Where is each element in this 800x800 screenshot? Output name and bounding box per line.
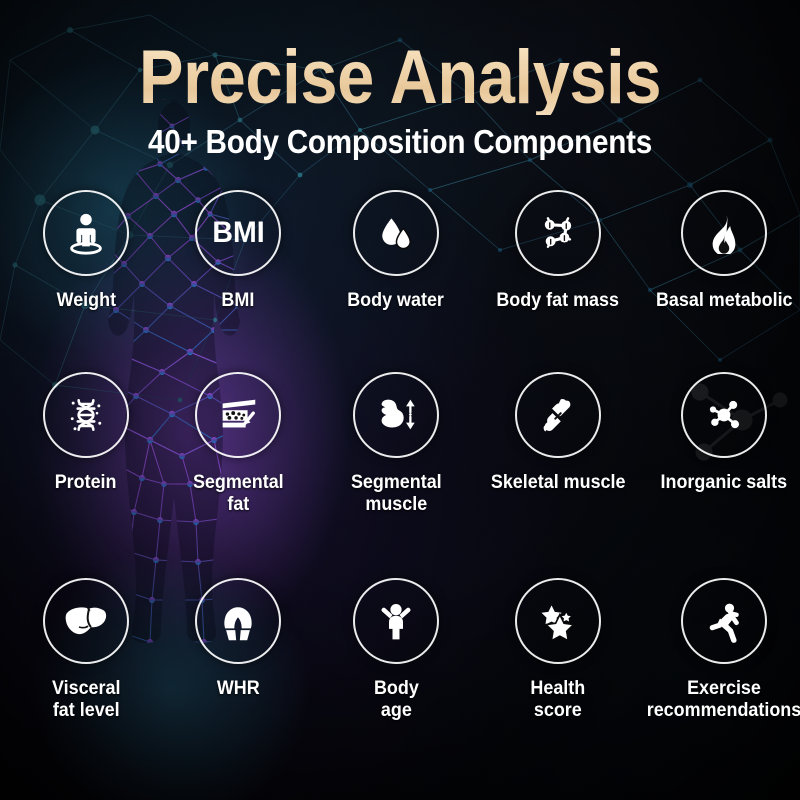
metric-card-segmental-muscle[interactable]: Segmental muscle [316,370,476,520]
segmental-fat-icon-circle[interactable] [195,372,281,458]
body-fat-mass-icon-circle[interactable] [515,190,601,276]
metric-card-visceral-fat-level[interactable]: Visceral fat level [6,572,166,722]
metric-label: Segmental muscle [351,471,442,516]
protein-icon-circle[interactable] [43,372,129,458]
basal-metabolic-icon-circle[interactable] [681,190,767,276]
metric-card-whr[interactable]: WHR [158,572,318,722]
metrics-grid: Weight BMI BMI Body water [0,190,800,800]
metric-card-segmental-fat[interactable]: Segmental fat [158,370,318,520]
skeletal-muscle-icon-circle[interactable] [515,372,601,458]
metric-label: WHR [217,677,260,699]
metric-label: Exercise recommendations [647,677,800,722]
metric-label: Weight [56,289,115,311]
infographic-poster: Precise Analysis 40+ Body Composition Co… [0,0,800,800]
whr-icon-circle[interactable] [195,578,281,664]
exercise-icon-circle[interactable] [681,578,767,664]
two-stars-icon [536,599,580,643]
bone-joint-icon [536,393,580,437]
dna-helix-icon [64,393,108,437]
metric-label: Visceral fat level [52,677,121,722]
water-droplets-icon [374,211,418,255]
running-person-icon [702,599,746,643]
metric-card-inorganic-salts[interactable]: Inorganic salts [644,370,800,520]
visceral-fat-icon-circle[interactable] [43,578,129,664]
metric-card-body-fat-mass[interactable]: Body fat mass [478,190,638,318]
hips-waist-icon [216,599,260,643]
metric-card-basal-metabolic[interactable]: Basal metabolic [644,190,800,318]
fat-layers-arrow-icon [215,392,261,438]
bicep-arrow-icon [373,392,419,438]
page-subtitle: 40+ Body Composition Components [40,115,760,161]
body-water-icon-circle[interactable] [353,190,439,276]
metric-card-health-score[interactable]: Health score [478,572,638,722]
fat-molecule-icon [536,211,580,255]
bmi-icon-circle[interactable]: BMI [195,190,281,276]
metric-label: Segmental fat [193,471,284,516]
metric-label: Basal metabolic [656,289,793,311]
metric-card-bmi[interactable]: BMI BMI [158,190,318,318]
poster-header: Precise Analysis 40+ Body Composition Co… [0,0,800,161]
metric-card-body-age[interactable]: Body age [316,572,476,722]
health-score-icon-circle[interactable] [515,578,601,664]
person-on-scale-icon [63,210,109,256]
metric-label: Body fat mass [497,289,620,311]
metric-card-skeletal-muscle[interactable]: Skeletal muscle [478,370,638,520]
metric-label: Skeletal muscle [491,471,626,493]
metric-card-weight[interactable]: Weight [6,190,166,318]
liver-icon [62,597,110,645]
bmi-text-icon: BMI [212,216,264,250]
person-arms-up-icon [375,600,417,642]
metric-label: BMI [222,289,255,311]
flame-icon [703,212,745,254]
metric-label: Inorganic salts [661,471,788,493]
metric-label: Body age [374,677,419,722]
metric-card-body-water[interactable]: Body water [316,190,476,318]
metric-label: Health score [531,677,586,722]
inorganic-salts-icon-circle[interactable] [681,372,767,458]
metric-card-exercise-recommendations[interactable]: Exercise recommendations [644,572,800,722]
weight-icon-circle[interactable] [43,190,129,276]
metric-card-protein[interactable]: Protein [6,370,166,520]
metric-label: Protein [55,471,117,493]
page-title: Precise Analysis [48,0,752,115]
metric-label: Body water [348,289,445,311]
mineral-molecule-icon [702,393,746,437]
segmental-muscle-icon-circle[interactable] [353,372,439,458]
body-age-icon-circle[interactable] [353,578,439,664]
